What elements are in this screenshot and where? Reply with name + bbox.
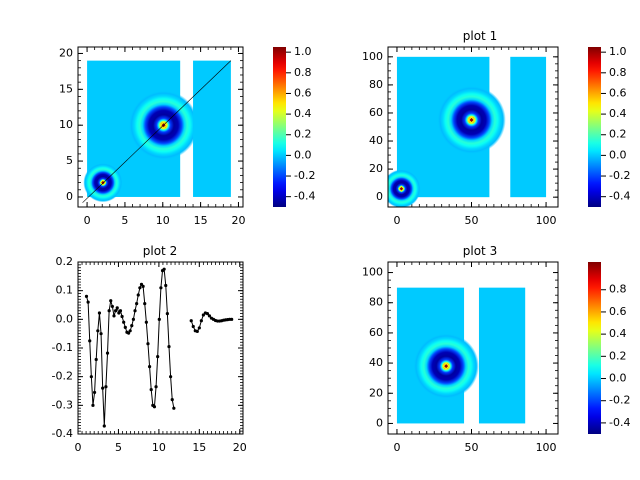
y-tick-label: -0.2 (52, 370, 73, 383)
heatmap-patch (193, 61, 231, 197)
y-tick-label: 10 (59, 118, 73, 131)
heatmap-patch (510, 57, 546, 197)
subplot-title: plot 3 (320, 244, 640, 258)
data-point-marker (133, 309, 136, 312)
colorbar-gradient (588, 47, 601, 207)
colorbar-tick-label: 0.6 (294, 86, 312, 99)
data-point-marker (150, 388, 153, 391)
data-point-marker (114, 309, 117, 312)
colorbar-ticks: 0.80.60.40.20.0-0.2-0.4 (601, 283, 630, 429)
colorbar-tick-label: 0.2 (609, 349, 627, 362)
data-point-marker (116, 306, 119, 309)
y-tick-label: 40 (369, 356, 383, 369)
x-tick-label: 50 (465, 441, 479, 454)
subplot-title: plot 2 (0, 244, 320, 258)
y-tick-label: 20 (369, 386, 383, 399)
colorbar-tick-label: -0.2 (609, 394, 630, 407)
data-point-marker (159, 286, 162, 289)
data-point-marker (99, 332, 102, 335)
colorbar-tick-label: 0.4 (609, 327, 627, 340)
heatmap-patch (479, 288, 525, 424)
y-tick-label: 40 (369, 134, 383, 147)
x-tick-label: 100 (536, 214, 557, 227)
colorbar-tick-label: -0.4 (609, 190, 630, 203)
x-tick-label: 0 (84, 214, 91, 227)
heatmap-layer (382, 57, 546, 208)
data-point-marker (111, 305, 114, 308)
colorbar-tick-label: 0.2 (609, 128, 627, 141)
data-point-marker (135, 302, 138, 305)
x-tick-label: 10 (152, 441, 166, 454)
y-tick-label: 0 (376, 416, 383, 429)
data-point-marker (200, 319, 203, 322)
y-tick-label: -0.3 (52, 398, 73, 411)
data-point-marker (120, 315, 123, 318)
subplot-plot-1[interactable]: plot 10501000204060801001.00.80.60.40.20… (320, 0, 640, 240)
data-point-marker (124, 326, 127, 329)
plot-svg-plot-2: 051015200.20.10.0-0.1-0.2-0.3-0.4 (0, 240, 320, 480)
colorbar-tick-label: 0.8 (609, 66, 627, 79)
colorbar-gradient (588, 262, 601, 434)
plot-svg-top-left: 05101520051015201.00.80.60.40.20.0-0.2-0… (0, 0, 320, 240)
data-point-marker (142, 285, 145, 288)
plot-svg-plot-3: 0501000204060801000.80.60.40.20.0-0.2-0.… (320, 240, 640, 480)
heatmap-layer (83, 61, 231, 203)
colorbar-tick-label: 0.6 (609, 305, 627, 318)
y-tick-label: 80 (369, 296, 383, 309)
x-tick-label: 0 (75, 441, 82, 454)
colorbar-tick-label: -0.2 (294, 169, 315, 182)
y-tick-label: 100 (362, 266, 383, 279)
data-point-marker (196, 330, 199, 333)
data-point-marker (145, 321, 148, 324)
y-tick-label: 5 (66, 154, 73, 167)
data-point-marker (112, 314, 115, 317)
y-tick-label: 0.1 (56, 284, 74, 297)
x-tick-label: 20 (231, 214, 245, 227)
colorbar-tick-label: 0.6 (609, 86, 627, 99)
y-tick-label: 60 (369, 106, 383, 119)
x-tick-label: 20 (233, 441, 247, 454)
x-tick-label: 10 (156, 214, 170, 227)
data-point-marker (87, 301, 90, 304)
data-point-marker (190, 319, 193, 322)
data-point-marker (156, 355, 159, 358)
data-point-marker (167, 345, 170, 348)
colorbar-tick-label: 0.4 (294, 107, 312, 120)
data-point-marker (143, 302, 146, 305)
data-point-marker (132, 318, 135, 321)
heatmap-layer (397, 288, 525, 424)
y-tick-label: 20 (59, 46, 73, 59)
x-tick-label: 50 (465, 214, 479, 227)
data-point-marker (101, 387, 104, 390)
data-point-marker (148, 365, 151, 368)
data-point-marker (108, 309, 111, 312)
colorbar-tick-label: 0.2 (294, 128, 312, 141)
data-point-marker (137, 293, 140, 296)
colorbar-tick-label: 0.0 (294, 148, 312, 161)
y-tick-label: 0 (66, 190, 73, 203)
subplot-top-left[interactable]: 05101520051015201.00.80.60.40.20.0-0.2-0… (0, 0, 320, 240)
colorbar-ticks: 1.00.80.60.40.20.0-0.2-0.4 (601, 45, 630, 203)
data-point-marker (163, 268, 166, 271)
colorbar-gradient (273, 47, 286, 207)
colorbar-tick-label: -0.4 (294, 190, 315, 203)
y-tick-label: 0.0 (56, 312, 74, 325)
y-tick-label: 15 (59, 82, 73, 95)
x-tick-label: 15 (192, 441, 206, 454)
y-tick-label: 60 (369, 326, 383, 339)
y-tick-label: 20 (369, 162, 383, 175)
data-point-marker (198, 326, 201, 329)
colorbar-tick-label: 0.0 (609, 372, 627, 385)
colorbar-tick-label: 0.4 (609, 107, 627, 120)
y-tick-label: 100 (362, 50, 383, 63)
data-point-marker (85, 295, 88, 298)
data-point-marker (154, 385, 157, 388)
data-point-marker (106, 352, 109, 355)
data-point-marker (158, 318, 161, 321)
subplot-plot-2[interactable]: plot 2051015200.20.10.0-0.1-0.2-0.3-0.4 (0, 240, 320, 480)
colorbar-ticks: 1.00.80.60.40.20.0-0.2-0.4 (286, 45, 315, 203)
colorbar-tick-label: -0.2 (609, 169, 630, 182)
x-tick-label: 0 (393, 214, 400, 227)
figure-canvas: 05101520051015201.00.80.60.40.20.0-0.2-0… (0, 0, 640, 480)
data-point-marker (122, 321, 125, 324)
data-point-marker (129, 329, 132, 332)
y-tick-label: -0.4 (52, 427, 73, 440)
data-point-marker (119, 309, 122, 312)
data-point-marker (169, 375, 172, 378)
x-tick-label: 5 (121, 214, 128, 227)
data-point-marker (164, 284, 167, 287)
data-point-marker (90, 375, 93, 378)
x-tick-label: 100 (536, 441, 557, 454)
data-point-marker (91, 404, 94, 407)
data-point-marker (104, 385, 107, 388)
colorbar-tick-label: 1.0 (609, 45, 627, 58)
data-point-marker (96, 329, 99, 332)
data-point-marker (230, 318, 233, 321)
data-point-marker (138, 286, 141, 289)
data-point-marker (153, 405, 156, 408)
colorbar-tick-label: 0.0 (609, 148, 627, 161)
data-point-marker (171, 398, 174, 401)
data-point-marker (130, 324, 133, 327)
data-point-marker (98, 311, 101, 314)
x-tick-label: 15 (194, 214, 208, 227)
colorbar-tick-label: 0.8 (294, 66, 312, 79)
data-point-marker (166, 312, 169, 315)
data-point-marker (88, 339, 91, 342)
colorbar-tick-label: 0.8 (609, 283, 627, 296)
data-point-marker (172, 407, 175, 410)
data-point-marker (109, 299, 112, 302)
data-point-marker (192, 325, 195, 328)
y-tick-label: 0 (376, 190, 383, 203)
x-tick-label: 0 (393, 441, 400, 454)
data-point-marker (103, 424, 106, 427)
data-point-marker (146, 342, 149, 345)
subplot-title: plot 1 (320, 29, 640, 43)
colorbar-tick-label: 1.0 (294, 45, 312, 58)
subplot-plot-3[interactable]: plot 30501000204060801000.80.60.40.20.0-… (320, 240, 640, 480)
y-tick-label: 80 (369, 78, 383, 91)
y-tick-label: -0.1 (52, 341, 73, 354)
data-point-marker (93, 391, 96, 394)
data-point-marker (95, 358, 98, 361)
x-tick-label: 5 (115, 441, 122, 454)
colorbar-tick-label: -0.4 (609, 416, 630, 429)
